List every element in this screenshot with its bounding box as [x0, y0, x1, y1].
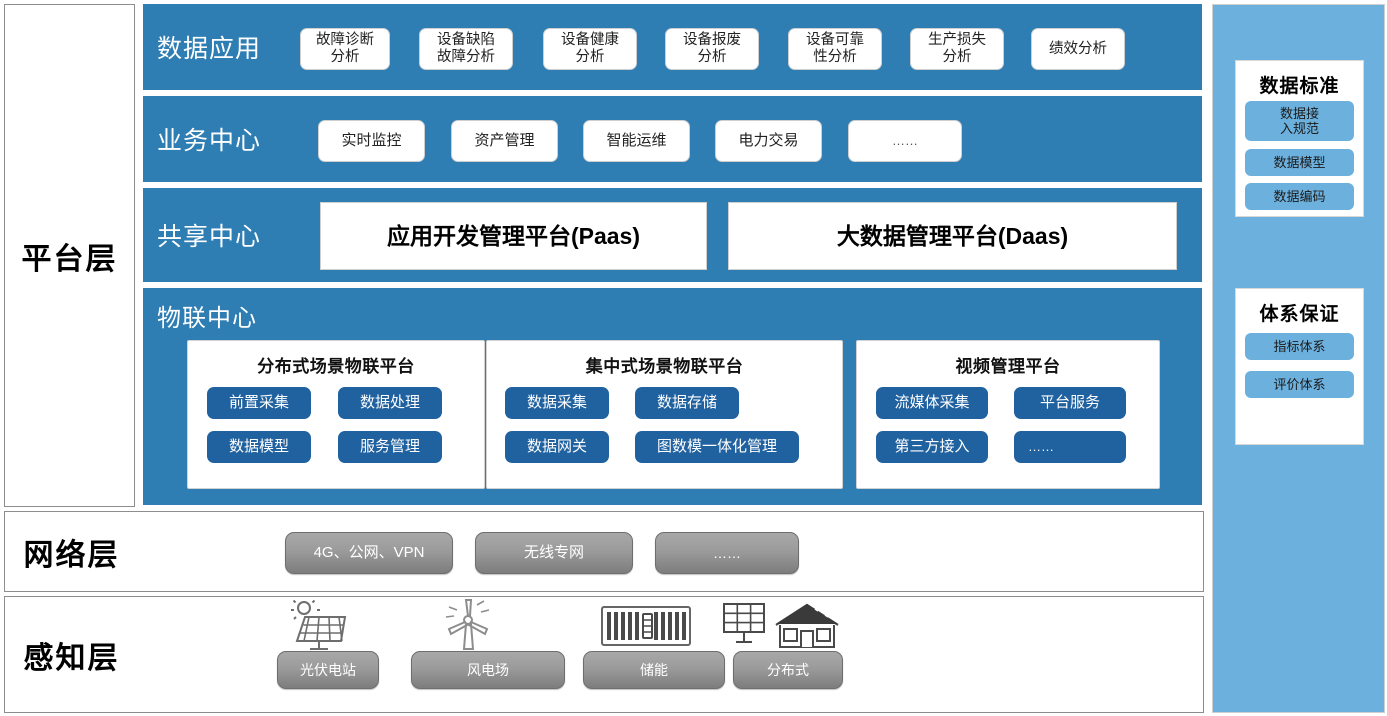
- app-item-label: 设备缺陷 故障分析: [437, 32, 495, 65]
- biz-item-power-trading[interactable]: 电力交易: [715, 120, 822, 162]
- iot-pill-label: 图数模一体化管理: [657, 438, 777, 455]
- network-item-wireless-private[interactable]: 无线专网: [475, 532, 633, 574]
- app-item-equipment-defect[interactable]: 设备缺陷 故障分析: [419, 28, 513, 70]
- iot-card-centralized-platform: 集中式场景物联平台 数据采集 数据存储 数据网关 图数模一体化管理: [486, 340, 843, 489]
- right-pill-indicator-system[interactable]: 指标体系: [1245, 333, 1354, 360]
- network-item-4g-public-vpn[interactable]: 4G、公网、VPN: [285, 532, 453, 574]
- solar-panel-sun-icon: [283, 599, 355, 656]
- right-pill-label: 数据模型: [1273, 155, 1325, 170]
- iot-pill-data-processing[interactable]: 数据处理: [338, 387, 442, 419]
- app-item-label: 故障诊断 分析: [316, 32, 374, 65]
- architecture-diagram: 平台层 数据应用 故障诊断 分析 设备缺陷 故障分析 设备健康 分析 设备报废 …: [0, 0, 1387, 716]
- app-item-label: 设备可靠 性分析: [806, 32, 864, 65]
- biz-item-realtime-monitoring[interactable]: 实时监控: [318, 120, 425, 162]
- layer-label-network: 网络层: [5, 512, 138, 591]
- iot-card-title: 视频管理平台: [857, 352, 1159, 377]
- app-item-equipment-reliability[interactable]: 设备可靠 性分析: [788, 28, 882, 70]
- iot-pill-data-gateway[interactable]: 数据网关: [505, 431, 609, 463]
- wind-turbine-icon: [437, 599, 499, 656]
- right-card-title: 体系保证: [1236, 299, 1363, 326]
- share-item-label: 应用开发管理平台(Paas): [387, 223, 640, 249]
- iot-pill-label: 数据处理: [360, 394, 420, 411]
- perception-item-energy-storage[interactable]: 储能: [583, 651, 725, 689]
- perception-item-label: 风电场: [467, 662, 509, 678]
- right-pill-label: 数据编码: [1273, 189, 1325, 204]
- layer-label-perception: 感知层: [5, 597, 138, 712]
- share-item-paas-platform[interactable]: 应用开发管理平台(Paas): [320, 202, 707, 270]
- app-item-label: 绩效分析: [1049, 41, 1107, 58]
- layer-label-platform: 平台层: [4, 4, 135, 507]
- network-item-label: 无线专网: [524, 544, 584, 561]
- app-item-label: 设备报废 分析: [683, 32, 741, 65]
- iot-pill-service-management[interactable]: 服务管理: [338, 431, 442, 463]
- row-business-center: 业务中心 实时监控 资产管理 智能运维 电力交易 ……: [143, 96, 1202, 182]
- platform-layer-panel: 数据应用 故障诊断 分析 设备缺陷 故障分析 设备健康 分析 设备报废 分析 设…: [143, 4, 1202, 505]
- right-pill-data-encoding[interactable]: 数据编码: [1245, 183, 1354, 210]
- perception-item-label: 储能: [640, 662, 668, 678]
- row-data-application: 数据应用 故障诊断 分析 设备缺陷 故障分析 设备健康 分析 设备报废 分析 设…: [143, 4, 1202, 90]
- right-card-data-standard: 数据标准 数据接 入规范 数据模型 数据编码: [1235, 60, 1364, 217]
- rooftop-solar-house-icon: [720, 601, 848, 654]
- right-card-title: 数据标准: [1236, 71, 1363, 98]
- app-item-equipment-scrap[interactable]: 设备报废 分析: [665, 28, 759, 70]
- share-item-label: 大数据管理平台(Daas): [837, 223, 1068, 249]
- right-card-system-guarantee: 体系保证 指标体系 评价体系: [1235, 288, 1364, 445]
- perception-item-label: 光伏电站: [300, 662, 356, 678]
- iot-pill-streaming-collection[interactable]: 流媒体采集: [876, 387, 988, 419]
- iot-pill-front-collection[interactable]: 前置采集: [207, 387, 311, 419]
- perception-item-wind-farm[interactable]: 风电场: [411, 651, 565, 689]
- iot-pill-graph-data-model-integration[interactable]: 图数模一体化管理: [635, 431, 799, 463]
- biz-item-label: 资产管理: [474, 132, 534, 149]
- perception-layer-panel: 感知层: [4, 596, 1204, 713]
- row-label-data-application: 数据应用: [157, 4, 287, 90]
- biz-item-smart-om[interactable]: 智能运维: [583, 120, 690, 162]
- battery-storage-icon: [600, 605, 692, 652]
- biz-item-label: 电力交易: [738, 132, 798, 149]
- network-item-label: 4G、公网、VPN: [314, 544, 425, 561]
- right-pill-data-access-spec[interactable]: 数据接 入规范: [1245, 101, 1354, 141]
- iot-card-title: 集中式场景物联平台: [487, 352, 842, 377]
- iot-pill-label: 数据存储: [657, 394, 717, 411]
- perception-item-pv-station[interactable]: 光伏电站: [277, 651, 379, 689]
- right-pill-evaluation-system[interactable]: 评价体系: [1245, 371, 1354, 398]
- perception-item-distributed[interactable]: 分布式: [733, 651, 843, 689]
- row-share-center: 共享中心 应用开发管理平台(Paas) 大数据管理平台(Daas): [143, 188, 1202, 282]
- iot-card-video-platform: 视频管理平台 流媒体采集 平台服务 第三方接入 ……: [856, 340, 1160, 489]
- app-item-label: 生产损失 分析: [928, 32, 986, 65]
- network-item-label: ……: [713, 545, 741, 561]
- app-item-fault-diagnosis[interactable]: 故障诊断 分析: [300, 28, 390, 70]
- iot-pill-label: 数据采集: [527, 394, 587, 411]
- iot-pill-label: 服务管理: [360, 438, 420, 455]
- iot-card-distributed-platform: 分布式场景物联平台 前置采集 数据处理 数据模型 服务管理: [187, 340, 485, 489]
- row-label-business-center: 业务中心: [157, 96, 287, 182]
- iot-pill-label: 流媒体采集: [894, 394, 969, 411]
- share-item-daas-platform[interactable]: 大数据管理平台(Daas): [728, 202, 1177, 270]
- iot-pill-label: 数据网关: [527, 438, 587, 455]
- iot-pill-data-storage[interactable]: 数据存储: [635, 387, 739, 419]
- biz-item-more[interactable]: ……: [848, 120, 962, 162]
- iot-pill-data-collection[interactable]: 数据采集: [505, 387, 609, 419]
- network-layer-panel: 网络层 4G、公网、VPN 无线专网 ……: [4, 511, 1204, 592]
- app-item-equipment-health[interactable]: 设备健康 分析: [543, 28, 637, 70]
- iot-pill-platform-service[interactable]: 平台服务: [1014, 387, 1126, 419]
- right-pill-label: 数据接 入规范: [1280, 106, 1319, 137]
- perception-item-label: 分布式: [767, 662, 809, 678]
- biz-item-asset-management[interactable]: 资产管理: [451, 120, 558, 162]
- iot-pill-third-party-access[interactable]: 第三方接入: [876, 431, 988, 463]
- iot-pill-more[interactable]: ……: [1014, 431, 1126, 463]
- row-label-iot-center: 物联中心: [157, 298, 257, 333]
- app-item-label: 设备健康 分析: [561, 32, 619, 65]
- iot-pill-label: 前置采集: [229, 394, 289, 411]
- iot-pill-label: 数据模型: [229, 438, 289, 455]
- iot-pill-label: ……: [1028, 440, 1054, 455]
- right-pill-data-model[interactable]: 数据模型: [1245, 149, 1354, 176]
- iot-pill-data-model[interactable]: 数据模型: [207, 431, 311, 463]
- iot-card-title: 分布式场景物联平台: [188, 352, 484, 377]
- right-pill-label: 评价体系: [1273, 377, 1325, 392]
- biz-item-label: ……: [892, 134, 918, 149]
- right-pill-label: 指标体系: [1273, 339, 1325, 354]
- iot-pill-label: 第三方接入: [894, 438, 969, 455]
- app-item-production-loss[interactable]: 生产损失 分析: [910, 28, 1004, 70]
- biz-item-label: 实时监控: [341, 132, 401, 149]
- right-support-column: 数据标准 数据接 入规范 数据模型 数据编码 体系保证 指标体系 评价体系: [1212, 4, 1385, 713]
- network-item-more[interactable]: ……: [655, 532, 799, 574]
- row-label-share-center: 共享中心: [157, 188, 287, 282]
- app-item-performance-analysis[interactable]: 绩效分析: [1031, 28, 1125, 70]
- biz-item-label: 智能运维: [606, 132, 666, 149]
- iot-pill-label: 平台服务: [1040, 394, 1100, 411]
- row-iot-center: 物联中心 分布式场景物联平台 前置采集 数据处理 数据模型 服务管理: [143, 288, 1202, 505]
